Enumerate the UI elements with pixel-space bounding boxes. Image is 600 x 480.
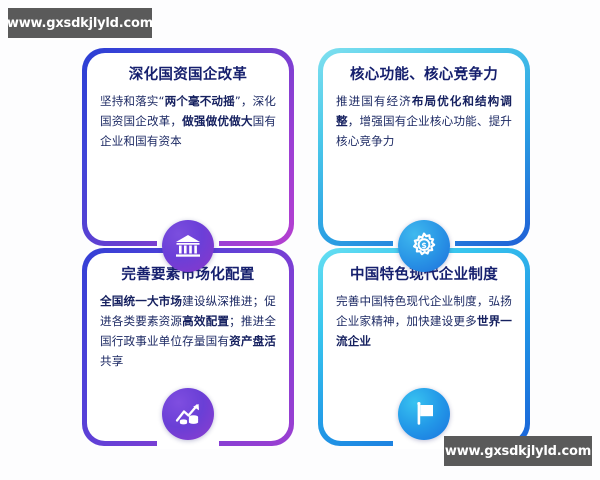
card-body: 全国统一大市场建设纵深推进；促进各类要素资源高效配置；推进全国行政事业单位存量国… bbox=[100, 292, 276, 372]
card-title: 核心功能、核心竞争力 bbox=[336, 67, 512, 84]
card-inner: 深化国资国企改革 坚持和落实“两个毫不动摇”，深化国资国企改革，做强做优做大国有… bbox=[87, 53, 289, 241]
watermark-top-left: www.gxsdkjlyld.com bbox=[8, 8, 152, 38]
card-core-function-competitiveness[interactable]: 核心功能、核心竞争力 推进国有经济布局优化和结构调整，增强国有企业核心功能、提升… bbox=[318, 48, 530, 246]
gear-dollar-icon: $ bbox=[398, 220, 450, 272]
bank-building-icon bbox=[162, 220, 214, 272]
card-body: 推进国有经济布局优化和结构调整，增强国有企业核心功能、提升核心竞争力 bbox=[336, 92, 512, 152]
card-deepen-soe-reform[interactable]: 深化国资国企改革 坚持和落实“两个毫不动摇”，深化国资国企改革，做强做优做大国有… bbox=[82, 48, 294, 246]
svg-text:$: $ bbox=[421, 241, 427, 250]
watermark-bottom-right: www.gxsdkjlyld.com bbox=[444, 436, 592, 466]
card-inner: 核心功能、核心竞争力 推进国有经济布局优化和结构调整，增强国有企业核心功能、提升… bbox=[323, 53, 525, 241]
card-body: 坚持和落实“两个毫不动摇”，深化国资国企改革，做强做优做大国有企业和国有资本 bbox=[100, 92, 276, 152]
card-body: 完善中国特色现代企业制度，弘扬企业家精神，加快建设更多世界一流企业 bbox=[336, 292, 512, 352]
infographic-canvas: www.gxsdkjlyld.com 深化国资国企改革 坚持和落实“两个毫不动摇… bbox=[0, 0, 600, 480]
card-title: 深化国资国企改革 bbox=[100, 67, 276, 84]
flag-icon bbox=[398, 388, 450, 440]
growth-arrow-coins-icon bbox=[162, 388, 214, 440]
